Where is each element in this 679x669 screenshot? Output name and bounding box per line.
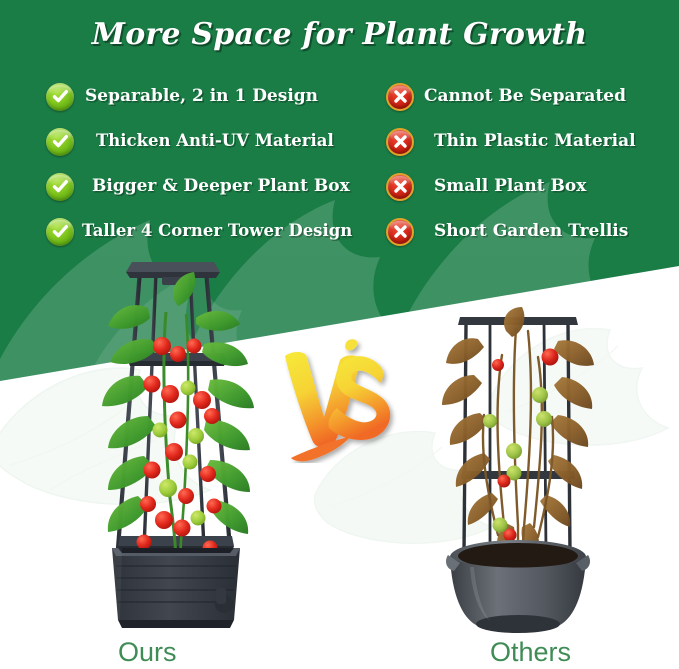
check-circle-icon [46, 83, 74, 111]
others-feature-row: Short Garden Trellis [386, 209, 676, 254]
others-feature-label: Short Garden Trellis [434, 223, 628, 240]
others-feature-column: Cannot Be Separated Thin Plastic Materia… [386, 74, 676, 254]
square-planter-box [112, 548, 240, 628]
others-feature-label: Small Plant Box [434, 178, 586, 195]
ours-feature-label: Separable, 2 in 1 Design [85, 88, 318, 105]
ours-feature-row: Bigger & Deeper Plant Box [46, 164, 386, 209]
round-plant-pot [446, 540, 590, 633]
page-title: More Space for Plant Growth [0, 17, 679, 52]
x-circle-icon [386, 128, 414, 156]
others-label: Others [490, 637, 571, 668]
ours-product-image [78, 248, 288, 633]
others-feature-label: Thin Plastic Material [434, 133, 636, 150]
infographic-canvas: More Space for Plant Growth Separable, 2… [0, 0, 679, 669]
ours-feature-label: Thicken Anti-UV Material [96, 133, 334, 150]
x-circle-icon [386, 218, 414, 246]
x-circle-icon [386, 83, 414, 111]
others-feature-label: Cannot Be Separated [424, 88, 626, 105]
others-feature-row: Thin Plastic Material [386, 119, 676, 164]
ours-feature-row: Separable, 2 in 1 Design [46, 74, 386, 119]
ours-feature-column: Separable, 2 in 1 Design Thicken Anti-UV… [46, 74, 386, 254]
check-circle-icon [46, 173, 74, 201]
comparison-feature-lists: Separable, 2 in 1 Design Thicken Anti-UV… [0, 74, 679, 254]
check-circle-icon [46, 128, 74, 156]
ours-feature-label: Bigger & Deeper Plant Box [92, 178, 350, 195]
vs-badge-icon [277, 338, 397, 463]
others-feature-row: Small Plant Box [386, 164, 676, 209]
ours-feature-row: Thicken Anti-UV Material [46, 119, 386, 164]
check-circle-icon [46, 218, 74, 246]
x-circle-icon [386, 173, 414, 201]
ours-feature-label: Taller 4 Corner Tower Design [82, 223, 352, 240]
others-feature-row: Cannot Be Separated [386, 74, 676, 119]
ours-label: Ours [118, 637, 177, 668]
others-product-image [418, 295, 618, 635]
